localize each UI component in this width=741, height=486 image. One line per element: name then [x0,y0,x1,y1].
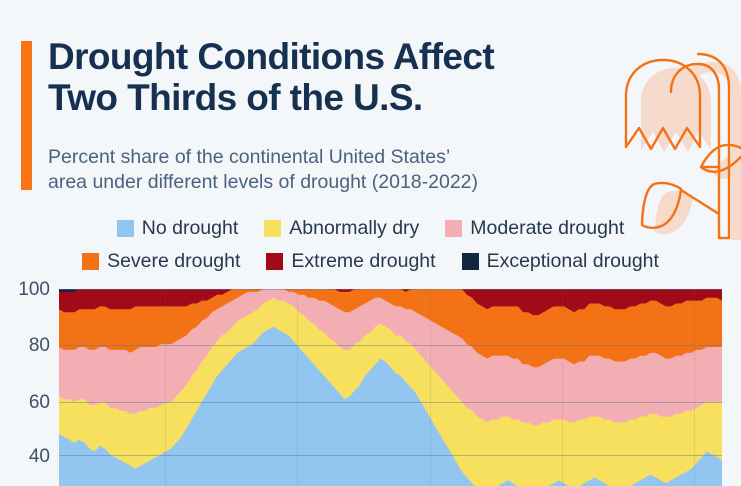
y-axis-tick-60: 60 [29,393,50,412]
legend-label-severe-drought: Severe drought [107,252,240,271]
legend-item-moderate-drought[interactable]: Moderate drought [445,219,624,238]
y-axis-tick-80: 80 [29,336,50,355]
year-gridline-2018 [165,289,166,486]
header: Drought Conditions Affect Two Thirds of … [0,0,741,208]
legend-item-extreme-drought[interactable]: Extreme drought [266,252,435,271]
area-series-group [59,289,722,486]
legend-label-extreme-drought: Extreme drought [291,252,435,271]
year-gridline-2020 [430,289,431,486]
legend-item-severe-drought[interactable]: Severe drought [82,252,240,271]
legend-label-moderate-drought: Moderate drought [470,219,624,238]
legend-label-no-drought: No drought [142,219,238,238]
page-title: Drought Conditions Affect Two Thirds of … [48,36,648,118]
legend-item-no-drought[interactable]: No drought [117,219,238,238]
year-gridline-2021 [562,289,563,486]
gridline-60 [59,402,722,403]
gridline-40 [59,455,722,456]
legend-label-exceptional-drought: Exceptional drought [487,252,659,271]
legend-swatch-extreme-drought [266,253,283,270]
legend-swatch-moderate-drought [445,220,462,237]
legend-swatch-severe-drought [82,253,99,270]
year-gridline-2019 [297,289,298,486]
accent-bar [21,41,32,190]
legend-item-exceptional-drought[interactable]: Exceptional drought [462,252,659,271]
gridline-100 [59,289,722,290]
gridline-80 [59,345,722,346]
page-subtitle-line-1: Percent share of the continental United … [48,146,450,168]
legend-swatch-abnormally-dry [264,220,281,237]
year-gridline-2022 [694,289,695,486]
legend-swatch-no-drought [117,220,134,237]
y-axis-tick-100: 100 [18,280,50,299]
legend-row-2: Severe drought Extreme drought Exception… [0,245,741,278]
legend-swatch-exceptional-drought [462,253,479,270]
legend-label-abnormally-dry: Abnormally dry [289,219,419,238]
legend-item-abnormally-dry[interactable]: Abnormally dry [264,219,419,238]
page-subtitle: Percent share of the continental United … [48,145,648,195]
page-title-line-2: Two Thirds of the U.S. [48,77,648,118]
page-title-line-1: Drought Conditions Affect [48,36,494,77]
page-subtitle-line-2: area under different levels of drought (… [48,170,648,195]
stacked-area-chart: 100 80 60 40 [0,281,741,486]
plot-area [59,289,722,486]
legend-row-1: No drought Abnormally dry Moderate droug… [0,212,741,245]
y-axis-tick-40: 40 [29,447,50,466]
chart-legend: No drought Abnormally dry Moderate droug… [0,212,741,278]
